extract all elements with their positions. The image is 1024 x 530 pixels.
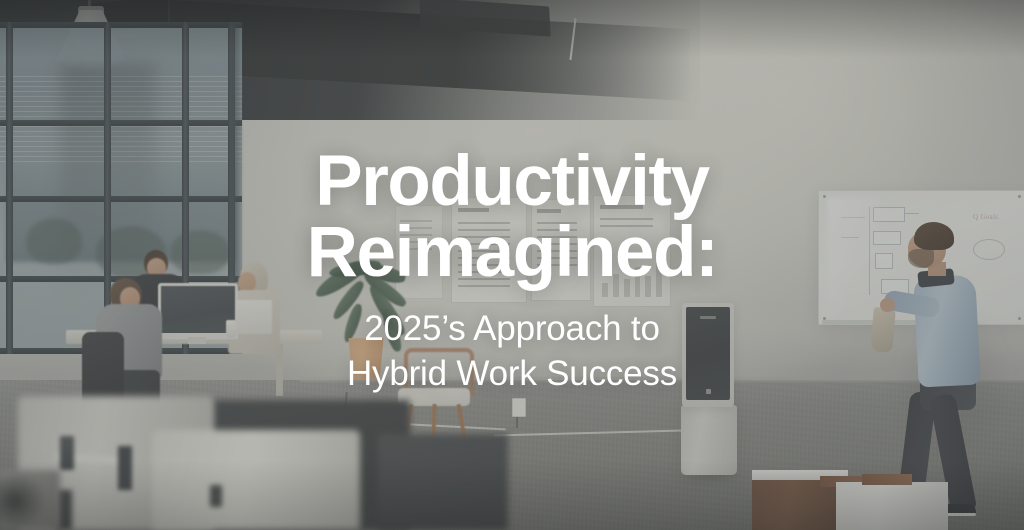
monitor-clamp: [118, 446, 132, 490]
window-mullion-vertical: [6, 22, 13, 354]
hair: [914, 222, 954, 250]
imac-stand: [188, 337, 206, 344]
wall-document: [452, 198, 526, 302]
white-cabinet-block: [836, 482, 948, 530]
desk-phone: [60, 436, 74, 470]
window-mullion-horizontal: [0, 120, 242, 126]
appliance-panel: [686, 307, 730, 400]
wall-power-socket: [512, 398, 526, 417]
appliance-indicator: [706, 389, 711, 394]
hand: [880, 298, 895, 312]
office-scene-photo: Q Goals: [0, 0, 1024, 530]
foreground-dark-object: [0, 468, 64, 530]
poster-bar-chart: [602, 260, 663, 297]
secondary-monitor: [236, 300, 272, 334]
window-mullion-horizontal: [0, 22, 242, 28]
foreground-monitor-back: [152, 430, 360, 530]
beard: [908, 249, 934, 268]
foreground-desk-divider: [378, 434, 508, 530]
person-man-walking: [876, 222, 996, 512]
wall-document: [532, 200, 590, 300]
wall-document: [396, 206, 442, 298]
plant-pot: [346, 338, 386, 380]
hero-banner: Q Goals: [0, 0, 1024, 530]
paper-cup: [226, 320, 236, 338]
whiteboard-red-note: Q Goals: [973, 213, 998, 221]
wall-chart-poster: [594, 196, 670, 306]
walnut-panel: [862, 474, 912, 485]
tote-bag: [870, 307, 896, 353]
appliance-logo: [700, 316, 716, 319]
window-mullion-horizontal: [0, 196, 242, 202]
torso-blue-shirt: [913, 274, 981, 387]
appliance-base: [681, 405, 737, 475]
monitor-logo: [210, 485, 222, 507]
office-chair: [82, 332, 124, 406]
